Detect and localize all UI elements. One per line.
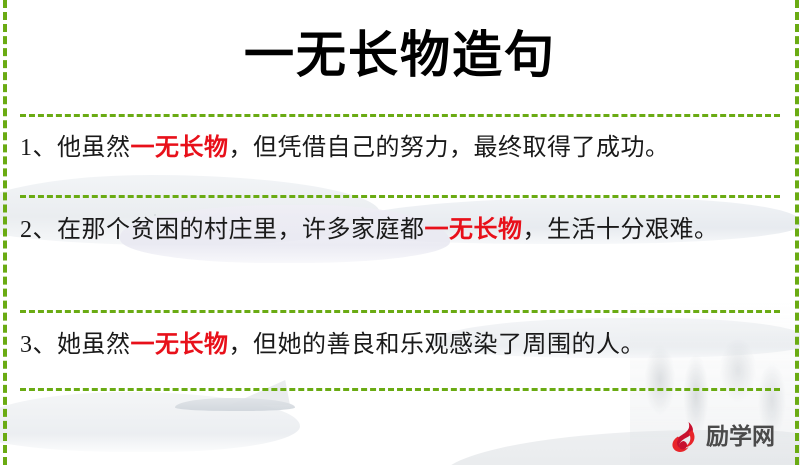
sentence-text: ，生活十分艰难。 (523, 217, 719, 243)
idiom-highlight: 一无长物 (131, 135, 229, 161)
sentence-3: 3、她虽然一无长物，但她的善良和乐观感染了周围的人。 (20, 325, 782, 365)
sentence-worksheet-page: 一无长物造句 1、他虽然一无长物，但凭借自己的努力，最终取得了成功。2、在那个贫… (0, 0, 800, 465)
sentence-text: ，但她的善良和乐观感染了周围的人。 (229, 332, 646, 358)
sentence-text: 1、他虽然 (20, 135, 131, 161)
separator-1 (20, 114, 780, 117)
sentence-text: 3、她虽然 (20, 332, 131, 358)
sentence-2: 2、在那个贫困的村庄里，许多家庭都一无长物，生活十分艰难。 (20, 210, 782, 250)
page-title: 一无长物造句 (0, 26, 800, 84)
sentence-1: 1、他虽然一无长物，但凭借自己的努力，最终取得了成功。 (20, 128, 782, 168)
separator-4 (20, 388, 780, 391)
site-watermark[interactable]: 励学网 (668, 420, 775, 452)
boat-shape (175, 398, 295, 411)
sail-shape (230, 380, 290, 405)
site-watermark-label: 励学网 (706, 422, 775, 450)
shoreline-wash (0, 392, 300, 452)
flame-swirl-icon (668, 420, 700, 452)
idiom-highlight: 一无长物 (425, 217, 523, 243)
separator-3 (20, 310, 780, 313)
idiom-highlight: 一无长物 (131, 332, 229, 358)
sentence-text: ，但凭借自己的努力，最终取得了成功。 (229, 135, 670, 161)
separator-2 (20, 195, 780, 198)
sentence-text: 2、在那个贫困的村庄里，许多家庭都 (20, 217, 425, 243)
